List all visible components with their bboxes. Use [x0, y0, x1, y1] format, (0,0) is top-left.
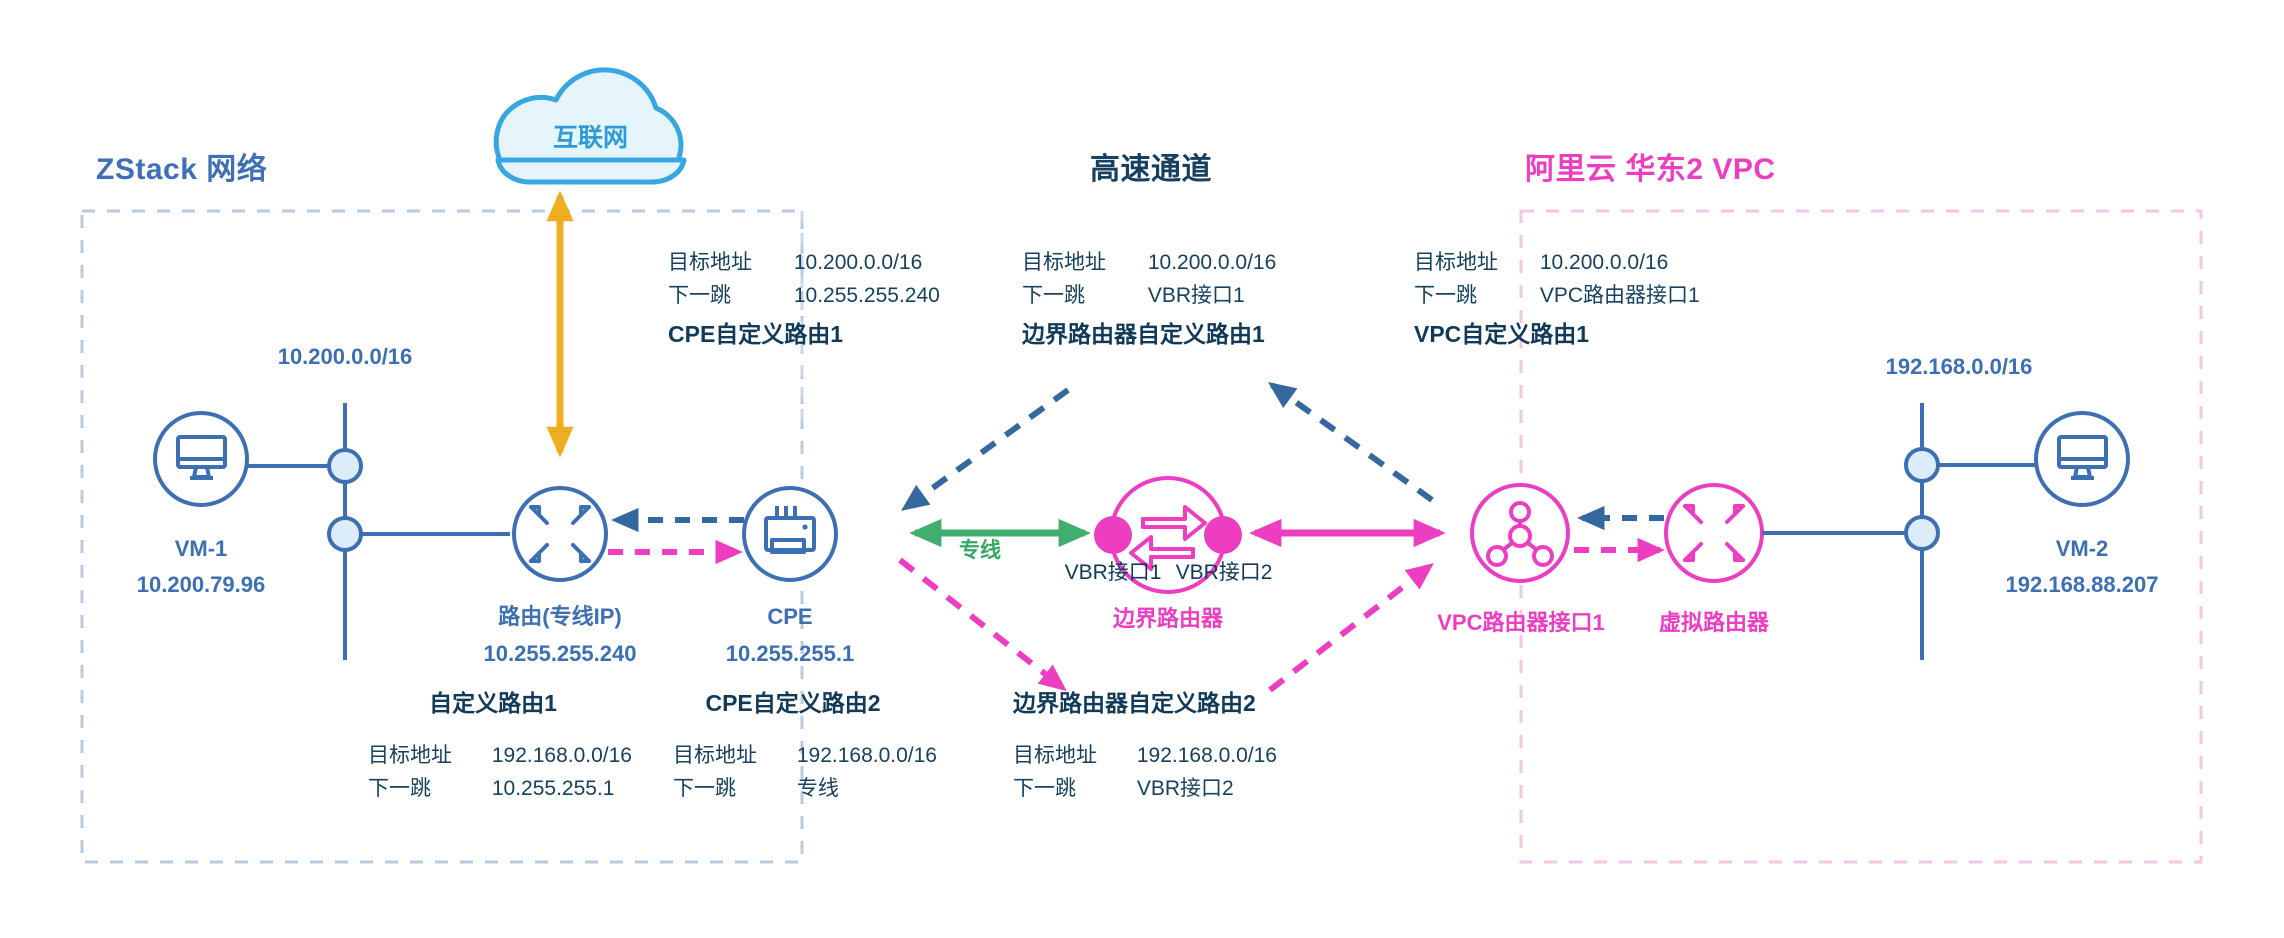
route-value: 10.200.0.0/16	[1148, 252, 1276, 273]
route-table-custom-route-1: 自定义路由1 目标地址 192.168.0.0/16 下一跳 10.255.25…	[368, 692, 632, 799]
vpc-router-interface-label: VPC路由器接口1	[1415, 612, 1627, 634]
cpe-ip-label: 10.255.255.1	[690, 643, 890, 665]
route-key: 目标地址	[668, 252, 788, 273]
route-table-title: 边界路由器自定义路由1	[1022, 323, 1276, 346]
section-title-express: 高速通道	[1090, 155, 1212, 185]
vm2-name-label: VM-2	[1982, 538, 2182, 560]
route-key: 下一跳	[1022, 285, 1142, 306]
route-key: 目标地址	[1022, 252, 1142, 273]
route-value: 192.168.0.0/16	[797, 745, 937, 766]
router-node[interactable]	[514, 488, 606, 580]
virtual-router-label: 虚拟路由器	[1629, 612, 1799, 634]
route-key: 下一跳	[668, 285, 788, 306]
route-table-title: VPC自定义路由1	[1414, 323, 1700, 346]
route-value: VBR接口2	[1137, 778, 1234, 799]
route-table-vpc-route-1: 目标地址 10.200.0.0/16 下一跳 VPC路由器接口1 VPC自定义路…	[1414, 252, 1700, 346]
route-key: 下一跳	[368, 778, 486, 799]
vbr-interface-2-port[interactable]	[1204, 516, 1242, 554]
vm2-ip-label: 192.168.88.207	[1962, 574, 2202, 596]
zstack-cidr-label: 10.200.0.0/16	[200, 346, 490, 368]
route-value: VBR接口1	[1148, 285, 1245, 306]
route-key: 下一跳	[673, 778, 791, 799]
vpc-router-interface-node[interactable]	[1472, 485, 1568, 581]
vm2-node[interactable]	[2036, 413, 2128, 505]
router-name-label: 路由(专线IP)	[440, 606, 680, 628]
network-topology-diagram: ZStack 网络 高速通道 阿里云 华东2 VPC 互联网 目标地址 10.2…	[0, 0, 2284, 938]
vm1-name-label: VM-1	[101, 538, 301, 560]
section-title-aliyun: 阿里云 华东2 VPC	[1525, 155, 1776, 185]
cpe-node[interactable]	[744, 488, 836, 580]
vbr-interface-1-port[interactable]	[1094, 516, 1132, 554]
bus-dot-upper	[329, 450, 361, 482]
route-key: 目标地址	[1013, 745, 1131, 766]
route-table-title: CPE自定义路由2	[673, 692, 913, 715]
route-table-title: 自定义路由1	[368, 692, 618, 715]
vpc-bus-dot-lower	[1906, 517, 1938, 549]
router-ip-label: 10.255.255.240	[440, 643, 680, 665]
flow-vbr-to-cpe-blue	[905, 390, 1068, 508]
route-table-cpe-route-1: 目标地址 10.200.0.0/16 下一跳 10.255.255.240 CP…	[668, 252, 940, 346]
route-value: 192.168.0.0/16	[492, 745, 632, 766]
vbr-interface-2-label: VBR接口2	[1163, 562, 1285, 583]
route-table-vbr-route-1: 目标地址 10.200.0.0/16 下一跳 VBR接口1 边界路由器自定义路由…	[1022, 252, 1276, 346]
section-title-zstack: ZStack 网络	[96, 155, 267, 185]
flow-vpc-to-vbr-blue	[1272, 385, 1432, 500]
vm1-ip-label: 10.200.79.96	[101, 574, 301, 596]
route-value: VPC路由器接口1	[1540, 285, 1700, 306]
vm1-node[interactable]	[155, 413, 247, 505]
internet-cloud-label: 互联网	[513, 126, 668, 151]
route-value: 10.200.0.0/16	[794, 252, 922, 273]
bus-dot-lower	[329, 518, 361, 550]
vpc-bus-dot-upper	[1906, 449, 1938, 481]
leased-line-label: 专线	[935, 540, 1025, 561]
flow-vbr-to-vpc-pink	[1270, 566, 1430, 690]
route-value: 10.200.0.0/16	[1540, 252, 1668, 273]
vbr-interface-1-label: VBR接口1	[1052, 562, 1174, 583]
route-key: 下一跳	[1414, 285, 1534, 306]
vbr-name-label: 边界路由器	[1083, 608, 1253, 630]
route-table-title: CPE自定义路由1	[668, 323, 940, 346]
route-key: 下一跳	[1013, 778, 1131, 799]
virtual-router-node[interactable]	[1666, 485, 1762, 581]
route-value: 192.168.0.0/16	[1137, 745, 1277, 766]
route-table-title: 边界路由器自定义路由2	[1013, 692, 1277, 715]
route-value: 专线	[797, 778, 839, 799]
route-table-cpe-route-2: CPE自定义路由2 目标地址 192.168.0.0/16 下一跳 专线	[673, 692, 937, 799]
flow-cpe-to-vbr-pink	[900, 560, 1063, 688]
route-value: 10.255.255.240	[794, 285, 940, 306]
cpe-name-label: CPE	[690, 606, 890, 628]
route-value: 10.255.255.1	[492, 778, 615, 799]
vpc-cidr-label: 192.168.0.0/16	[1834, 356, 2084, 378]
route-key: 目标地址	[673, 745, 791, 766]
route-table-vbr-route-2: 边界路由器自定义路由2 目标地址 192.168.0.0/16 下一跳 VBR接…	[1013, 692, 1277, 799]
route-key: 目标地址	[1414, 252, 1534, 273]
route-key: 目标地址	[368, 745, 486, 766]
